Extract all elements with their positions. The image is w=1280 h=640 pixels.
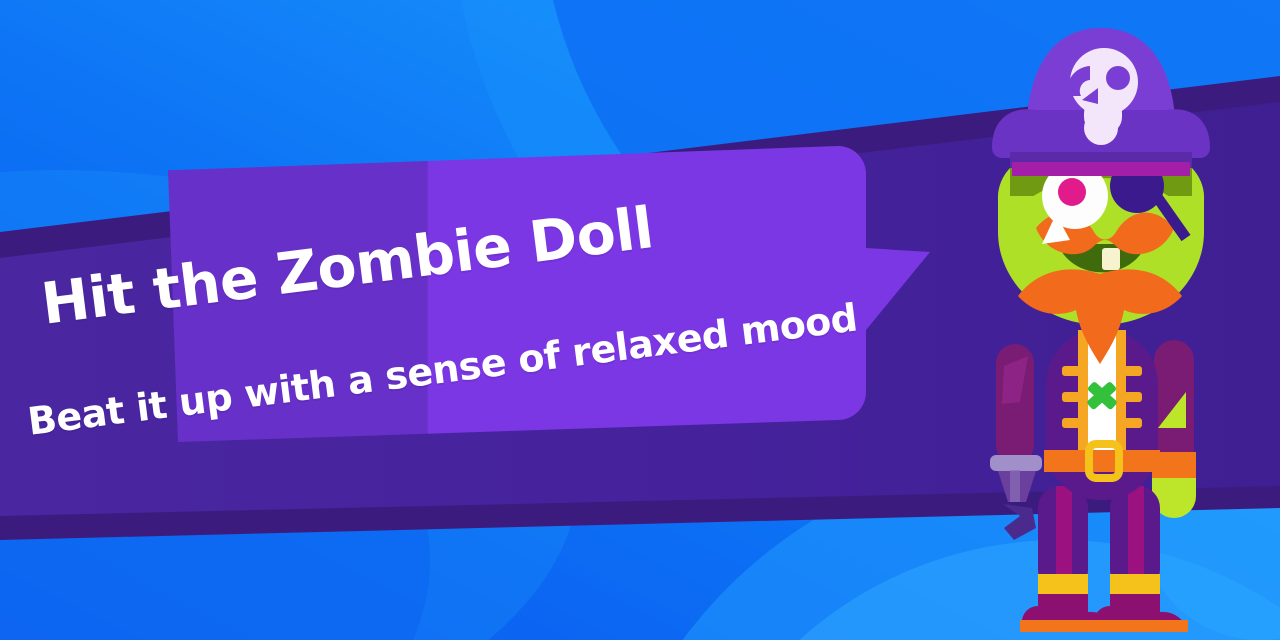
right-arm-with-hand [1152,340,1196,518]
promo-banner: Hit the Zombie Doll Beat it up with a se… [0,0,1280,640]
banner-artwork [0,0,1280,640]
speech-bubble [168,146,930,442]
